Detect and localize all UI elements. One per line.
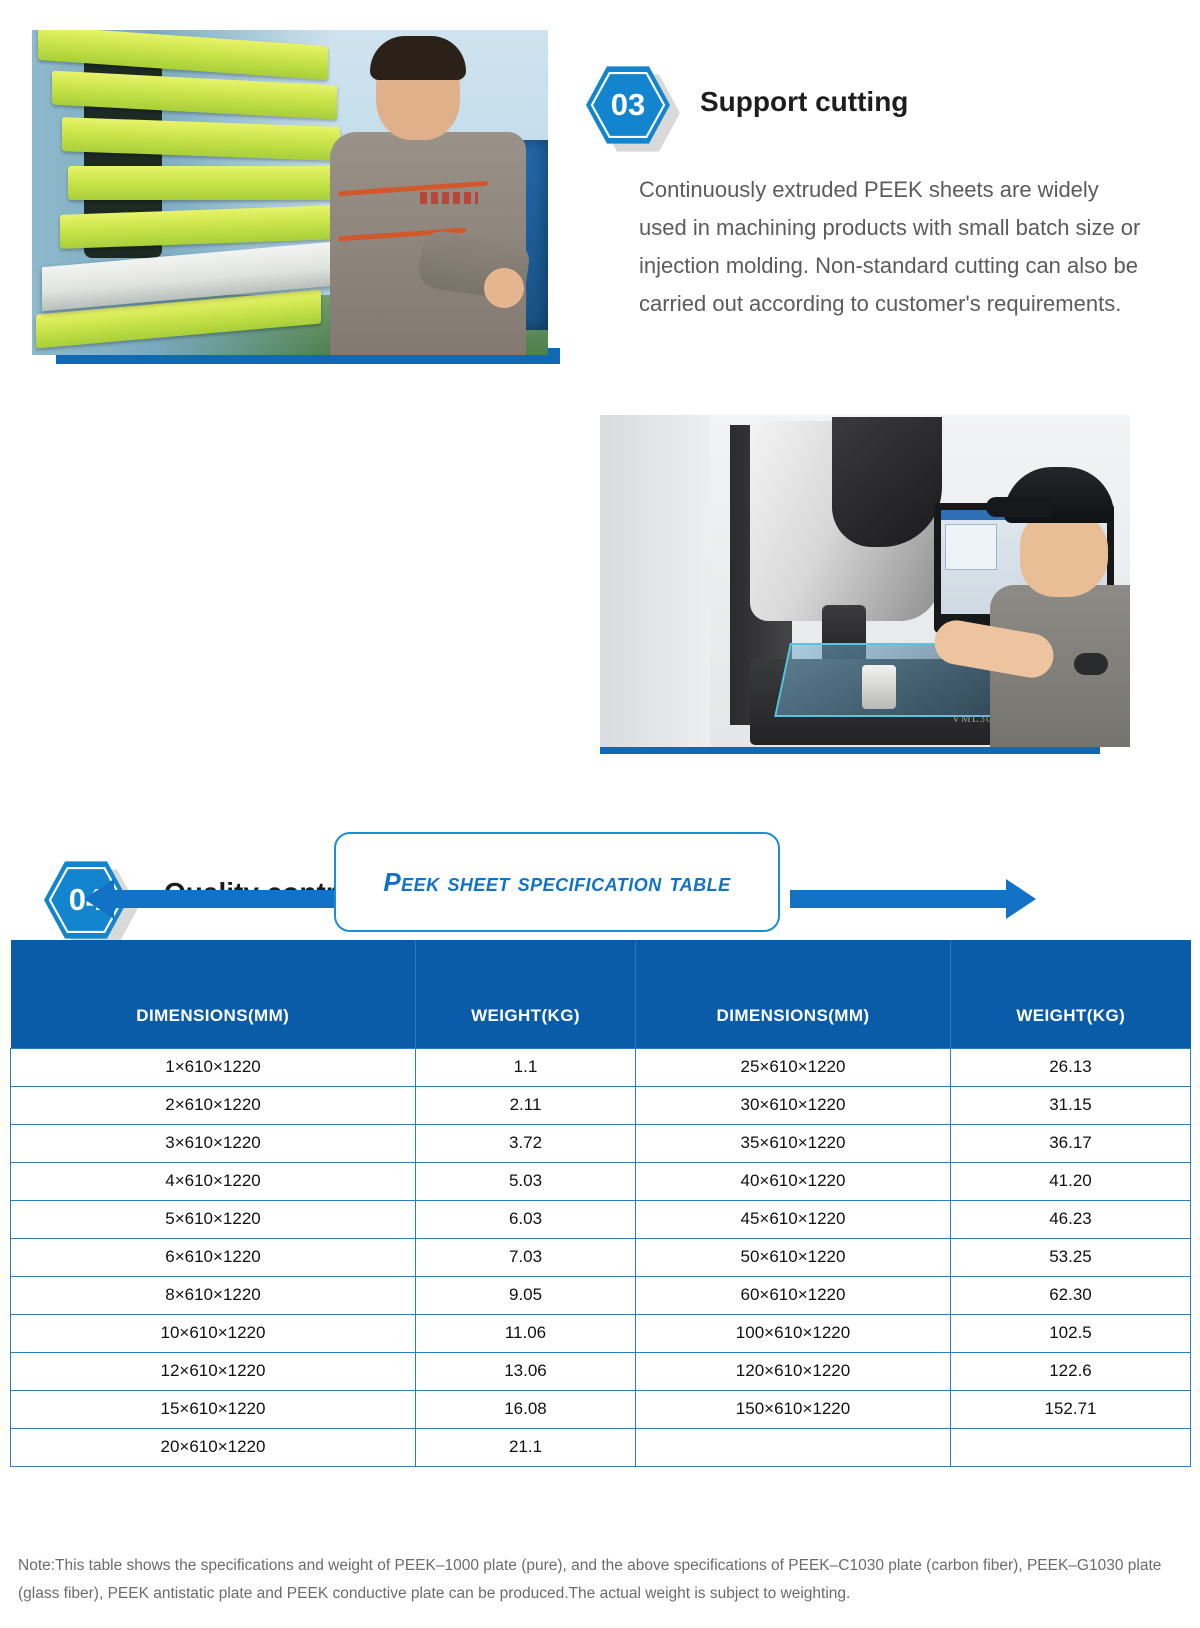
column-header-weight-2: WEIGHT(KG) [951, 940, 1191, 1048]
table-row: 20×610×122021.1 [11, 1428, 1191, 1466]
left-arrow-icon [84, 879, 114, 919]
cell-weight: 16.08 [416, 1390, 636, 1428]
table-row: 1×610×12201.125×610×122026.13 [11, 1048, 1191, 1086]
cell-weight: 152.71 [951, 1390, 1191, 1428]
cell-dimensions: 35×610×1220 [636, 1124, 951, 1162]
section-support-cutting: 03 Support cutting Continuously extruded… [0, 18, 1200, 398]
cell-dimensions: 120×610×1220 [636, 1352, 951, 1390]
cell-dimensions: 45×610×1220 [636, 1200, 951, 1238]
cell-weight: 3.72 [416, 1124, 636, 1162]
worker-hand [484, 268, 524, 308]
operator-face [1020, 511, 1108, 597]
table-row: 2×610×12202.1130×610×122031.15 [11, 1086, 1191, 1124]
cell-dimensions: 25×610×1220 [636, 1048, 951, 1086]
banner-title-box: Peek sheet specification table [334, 832, 780, 932]
column-header-weight-1: WEIGHT(KG) [416, 940, 636, 1048]
table-row: 4×610×12205.0340×610×122041.20 [11, 1162, 1191, 1200]
cell-dimensions [636, 1428, 951, 1466]
cell-dimensions: 2×610×1220 [11, 1086, 416, 1124]
table-row: 3×610×12203.7235×610×122036.17 [11, 1124, 1191, 1162]
peek-sheet-yellow [68, 166, 340, 200]
cell-dimensions: 150×610×1220 [636, 1390, 951, 1428]
photo-support-cutting [32, 30, 548, 355]
test-specimen [862, 665, 896, 709]
section-title-support-cutting: Support cutting [700, 86, 908, 118]
column-header-dimensions-1: DIMENSIONS(MM) [11, 940, 416, 1048]
cell-weight: 122.6 [951, 1352, 1191, 1390]
spec-table-banner: Peek sheet specification table [0, 832, 1200, 932]
table-row: 12×610×122013.06120×610×1220122.6 [11, 1352, 1191, 1390]
cap-brim [986, 497, 1052, 517]
table-body: 1×610×12201.125×610×122026.132×610×12202… [11, 1048, 1191, 1466]
cell-weight: 26.13 [951, 1048, 1191, 1086]
cell-weight: 2.11 [416, 1086, 636, 1124]
cell-weight: 36.17 [951, 1124, 1191, 1162]
cell-dimensions: 30×610×1220 [636, 1086, 951, 1124]
right-arrow-shaft [790, 890, 1008, 908]
cell-dimensions: 8×610×1220 [11, 1276, 416, 1314]
uniform-logo [420, 192, 478, 204]
table-note: Note:This table shows the specifications… [18, 1552, 1186, 1608]
table-row: 10×610×122011.06100×610×1220102.5 [11, 1314, 1191, 1352]
cell-weight [951, 1428, 1191, 1466]
photo-support-cutting-frame [32, 30, 560, 380]
cell-dimensions: 1×610×1220 [11, 1048, 416, 1086]
section-quality-control: 04 Quality control Comprehensive analysi… [0, 415, 1200, 805]
lab-wall [600, 415, 710, 747]
peek-specification-table: DIMENSIONS(MM) WEIGHT(KG) DIMENSIONS(MM)… [10, 940, 1191, 1467]
table-row: 8×610×12209.0560×610×122062.30 [11, 1276, 1191, 1314]
table-row: 6×610×12207.0350×610×122053.25 [11, 1238, 1191, 1276]
qc-operator [986, 467, 1130, 747]
section-body-support-cutting: Continuously extruded PEEK sheets are wi… [639, 171, 1149, 323]
cell-weight: 62.30 [951, 1276, 1191, 1314]
cell-dimensions: 20×610×1220 [11, 1428, 416, 1466]
cell-dimensions: 4×610×1220 [11, 1162, 416, 1200]
cell-weight: 41.20 [951, 1162, 1191, 1200]
badge-hexagon-03: 03 [586, 63, 670, 147]
cell-weight: 1.1 [416, 1048, 636, 1086]
cell-dimensions: 5×610×1220 [11, 1200, 416, 1238]
table-row: 5×610×12206.0345×610×122046.23 [11, 1200, 1191, 1238]
column-header-dimensions-2: DIMENSIONS(MM) [636, 940, 951, 1048]
cell-dimensions: 40×610×1220 [636, 1162, 951, 1200]
photo-quality-control-frame: VML300 [600, 415, 1140, 765]
cell-dimensions: 15×610×1220 [11, 1390, 416, 1428]
cell-dimensions: 12×610×1220 [11, 1352, 416, 1390]
factory-worker [324, 36, 534, 355]
cell-weight: 5.03 [416, 1162, 636, 1200]
cell-weight: 46.23 [951, 1200, 1191, 1238]
product-spec-page: 03 Support cutting Continuously extruded… [0, 0, 1200, 1628]
table-header-row: DIMENSIONS(MM) WEIGHT(KG) DIMENSIONS(MM)… [11, 940, 1191, 1048]
cell-dimensions: 60×610×1220 [636, 1276, 951, 1314]
badge-number: 03 [586, 63, 670, 147]
cell-weight: 9.05 [416, 1276, 636, 1314]
cell-weight: 102.5 [951, 1314, 1191, 1352]
cell-weight: 53.25 [951, 1238, 1191, 1276]
banner-title: Peek sheet specification table [383, 867, 730, 898]
worker-hair [370, 36, 466, 80]
table-row: 15×610×122016.08150×610×1220152.71 [11, 1390, 1191, 1428]
cell-dimensions: 6×610×1220 [11, 1238, 416, 1276]
cell-weight: 7.03 [416, 1238, 636, 1276]
cell-weight: 31.15 [951, 1086, 1191, 1124]
optical-head-shade [832, 417, 942, 547]
cell-dimensions: 50×610×1220 [636, 1238, 951, 1276]
right-arrow-icon [1006, 879, 1036, 919]
left-arrow-shaft [112, 890, 362, 908]
cell-dimensions: 100×610×1220 [636, 1314, 951, 1352]
cell-dimensions: 10×610×1220 [11, 1314, 416, 1352]
computer-mouse [1074, 653, 1108, 675]
cell-dimensions: 3×610×1220 [11, 1124, 416, 1162]
cell-weight: 21.1 [416, 1428, 636, 1466]
cell-weight: 6.03 [416, 1200, 636, 1238]
photo-quality-control: VML300 [600, 415, 1130, 747]
cell-weight: 13.06 [416, 1352, 636, 1390]
cell-weight: 11.06 [416, 1314, 636, 1352]
